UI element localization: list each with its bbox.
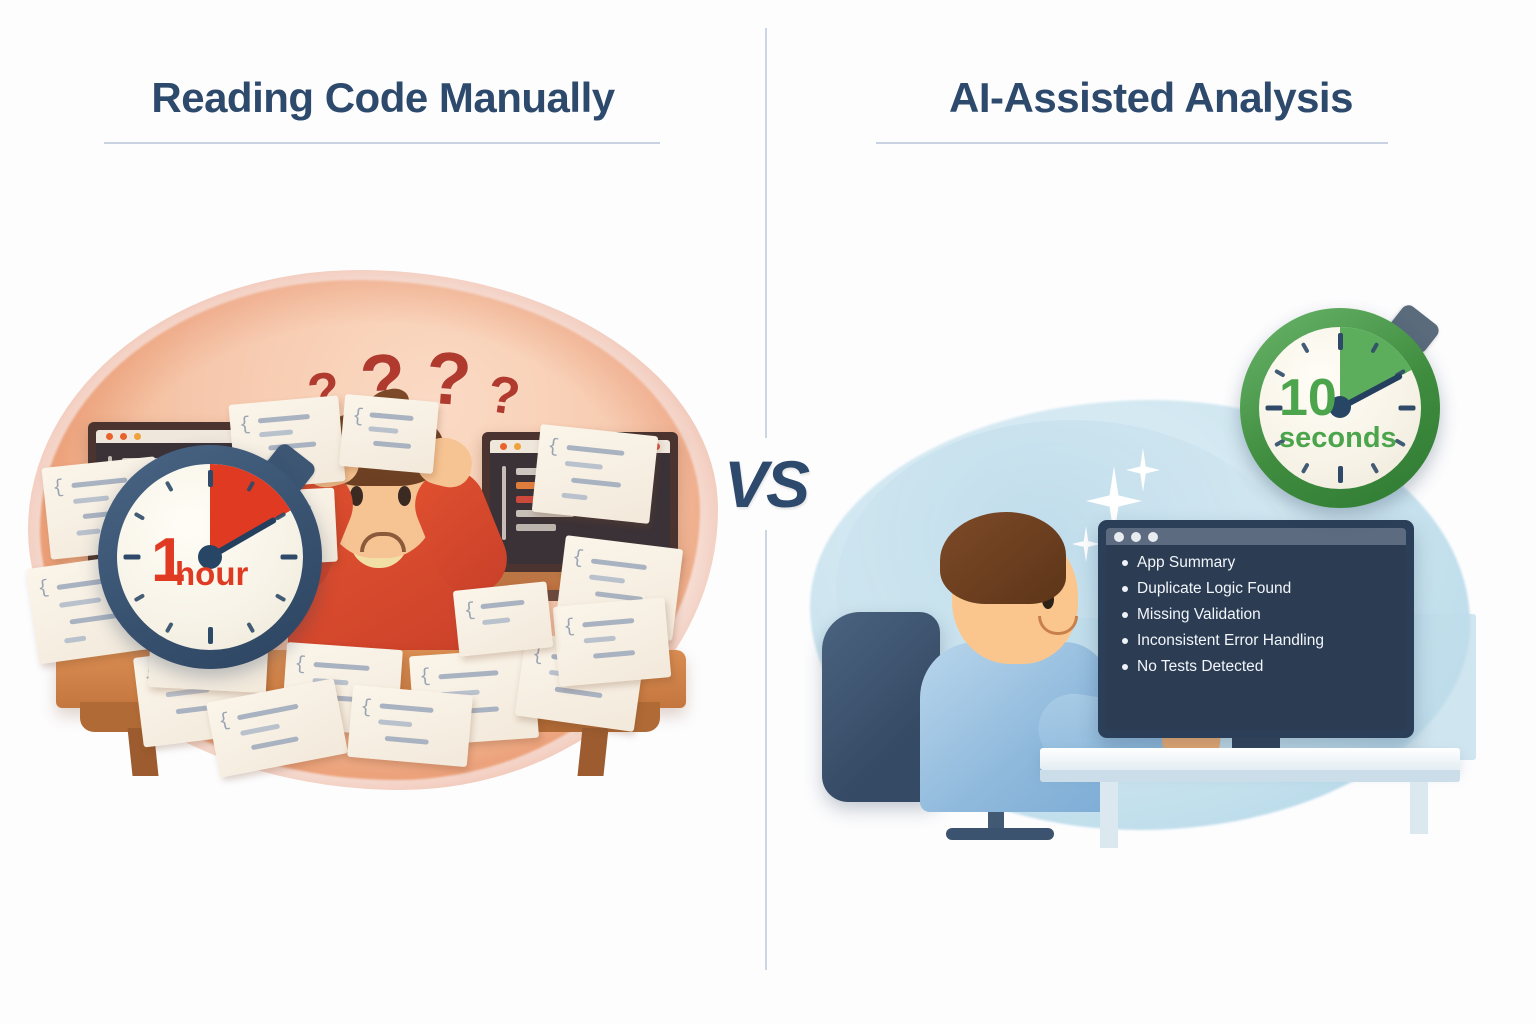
stopwatch-face: 1 hour [117,464,303,650]
stopwatch-tick [208,470,213,487]
bullet-icon [1122,586,1128,592]
stopwatch-unit: hour [175,559,248,589]
stopwatch-tick [280,555,297,560]
code-paper: { [339,394,439,474]
list-item: Missing Validation [1122,606,1398,624]
desk-leg [577,728,608,776]
left-illustration: ? ? ? ? { { [20,250,740,810]
stopwatch-reading-right: 10 seconds [1279,375,1397,452]
page-title-left: Reading Code Manually [0,74,766,122]
list-item-label: Missing Validation [1137,606,1261,624]
vertical-divider-bottom [765,530,767,970]
desk-leg [1410,782,1428,834]
stopwatch-unit: seconds [1279,425,1397,452]
bullet-icon [1122,638,1128,644]
white-desk [1040,748,1460,770]
stopwatch-tick [208,627,213,644]
code-paper: { [553,597,672,686]
stopwatch-tick [1398,406,1415,411]
list-item-label: App Summary [1137,554,1235,572]
bullet-icon [1122,612,1128,618]
code-paper: { [347,685,473,767]
hair [940,512,1066,604]
list-item-label: Duplicate Logic Found [1137,580,1291,598]
stopwatch-left: 1 hour [98,445,322,669]
stopwatch-tick [123,555,140,560]
bullet-icon [1122,560,1128,566]
vertical-divider-top [765,28,767,438]
page-title-right: AI-Assisted Analysis [766,74,1536,122]
stopwatch-right: 10 seconds [1240,308,1440,508]
list-item: No Tests Detected [1122,658,1398,676]
title-underline-left [104,142,660,144]
bullet-icon [1122,664,1128,670]
title-underline-right [876,142,1388,144]
sparkle-icon [1126,448,1160,492]
window-titlebar [1106,528,1406,545]
eye-right [398,486,411,506]
code-paper: { [532,424,659,524]
stopwatch-tick [1338,333,1343,350]
window-dot-minimize[interactable] [1131,532,1141,542]
list-item: App Summary [1122,554,1398,572]
stopwatch-reading-left: 1 hour [151,532,248,589]
window-dot-maximize[interactable] [1148,532,1158,542]
list-item: Duplicate Logic Found [1122,580,1398,598]
white-desk-edge [1040,770,1460,782]
ai-findings-list: App Summary Duplicate Logic Found Missin… [1122,554,1398,684]
office-chair-base [946,828,1054,840]
stopwatch-face: 10 seconds [1259,327,1421,489]
stopwatch-value: 10 [1279,375,1397,423]
list-item-label: Inconsistent Error Handling [1137,632,1324,650]
ai-results-monitor: App Summary Duplicate Logic Found Missin… [1098,520,1414,738]
sparkle-icon [1072,526,1100,562]
window-dot-close[interactable] [1114,532,1124,542]
infographic-canvas: Reading Code Manually AI-Assisted Analys… [0,0,1536,1024]
stopwatch-tick [1338,466,1343,483]
list-item-label: No Tests Detected [1137,658,1263,676]
monitor-screen: App Summary Duplicate Logic Found Missin… [1106,528,1406,730]
desk-leg [1100,782,1118,848]
list-item: Inconsistent Error Handling [1122,632,1398,650]
code-paper: { [453,581,553,656]
